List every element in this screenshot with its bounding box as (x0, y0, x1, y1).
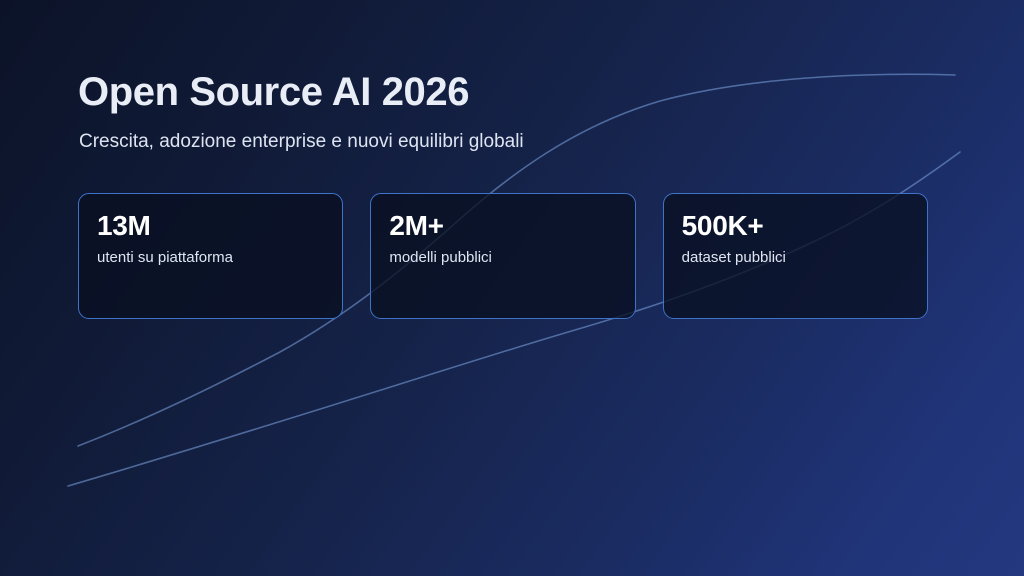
page-title: Open Source AI 2026 (78, 70, 469, 115)
page-subtitle: Crescita, adozione enterprise e nuovi eq… (79, 131, 524, 153)
presentation-slide: Open Source AI 2026 Crescita, adozione e… (0, 0, 1024, 576)
stat-value: 2M+ (389, 211, 616, 240)
stat-card-models: 2M+ modelli pubblici (370, 193, 635, 319)
stat-value: 500K+ (682, 211, 909, 240)
stat-card-users: 13M utenti su piattaforma (78, 193, 343, 319)
stats-row: 13M utenti su piattaforma 2M+ modelli pu… (78, 193, 928, 319)
slide-content: Open Source AI 2026 Crescita, adozione e… (78, 0, 946, 576)
stat-card-datasets: 500K+ dataset pubblici (663, 193, 928, 319)
stat-label: dataset pubblici (682, 249, 909, 267)
stat-value: 13M (97, 211, 324, 240)
stat-label: utenti su piattaforma (97, 249, 324, 267)
stat-label: modelli pubblici (389, 249, 616, 267)
